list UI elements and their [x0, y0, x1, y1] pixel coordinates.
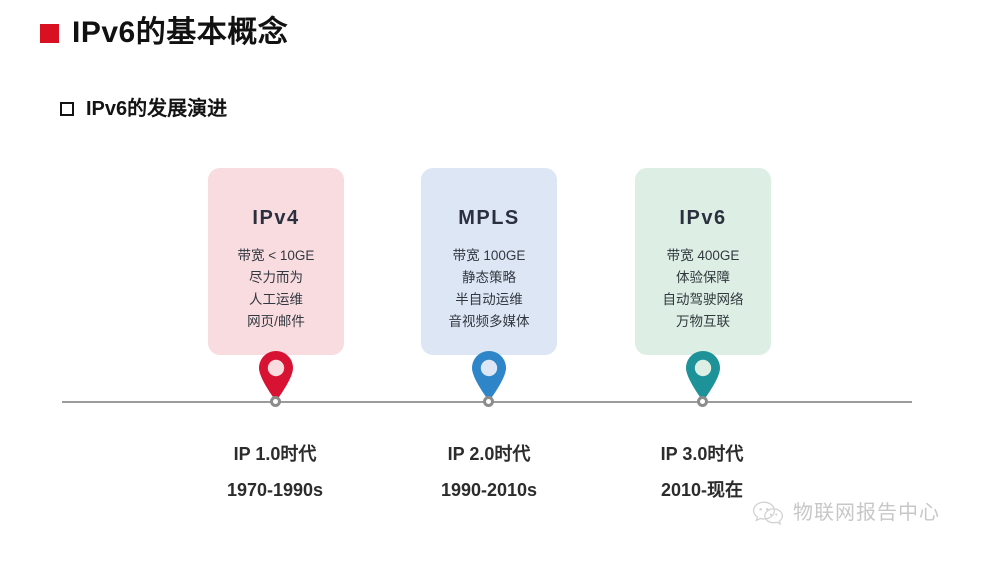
era-name: IP 3.0时代 — [602, 445, 802, 463]
stage-card-title: IPv6 — [635, 208, 771, 228]
stage-card-mpls: MPLS 带宽 100GE 静态策略 半自动运维 音视频多媒体 — [421, 168, 557, 355]
watermark: 物联网报告中心 — [752, 500, 940, 526]
era-years: 1990-2010s — [389, 481, 589, 499]
stage-card-ipv6: IPv6 带宽 400GE 体验保障 自动驾驶网络 万物互联 — [635, 168, 771, 355]
stage-card-bullet: 带宽 < 10GE — [208, 245, 344, 267]
era-years: 1970-1990s — [175, 481, 375, 499]
era-name: IP 2.0时代 — [389, 445, 589, 463]
stage-card-bullet: 半自动运维 — [421, 289, 557, 311]
stage-card-ipv4: IPv4 带宽 < 10GE 尽力而为 人工运维 网页/邮件 — [208, 168, 344, 355]
stage-card-bullet: 带宽 100GE — [421, 245, 557, 267]
era-label-2: IP 2.0时代 1990-2010s — [389, 445, 589, 499]
stage-card-bullet: 万物互联 — [635, 311, 771, 333]
stage-card-bullet: 尽力而为 — [208, 267, 344, 289]
stage-card-bullet: 带宽 400GE — [635, 245, 771, 267]
stage-card-bullets: 带宽 100GE 静态策略 半自动运维 音视频多媒体 — [421, 245, 557, 333]
stage-card-title: IPv4 — [208, 208, 344, 228]
stage-card-bullet: 自动驾驶网络 — [635, 289, 771, 311]
stage-card-title: MPLS — [421, 208, 557, 228]
timeline-node — [270, 396, 281, 407]
timeline-diagram: IPv4 带宽 < 10GE 尽力而为 人工运维 网页/邮件 MPLS 带宽 1… — [0, 0, 1000, 562]
era-years: 2010-现在 — [602, 481, 802, 499]
stage-card-bullet: 网页/邮件 — [208, 311, 344, 333]
wechat-icon — [752, 500, 784, 526]
era-name: IP 1.0时代 — [175, 445, 375, 463]
era-label-1: IP 1.0时代 1970-1990s — [175, 445, 375, 499]
watermark-text: 物联网报告中心 — [793, 503, 940, 523]
timeline-node — [483, 396, 494, 407]
stage-card-bullet: 静态策略 — [421, 267, 557, 289]
stage-card-bullets: 带宽 < 10GE 尽力而为 人工运维 网页/邮件 — [208, 245, 344, 333]
timeline-node — [697, 396, 708, 407]
stage-card-bullet: 音视频多媒体 — [421, 311, 557, 333]
stage-card-bullets: 带宽 400GE 体验保障 自动驾驶网络 万物互联 — [635, 245, 771, 333]
stage-card-bullet: 人工运维 — [208, 289, 344, 311]
era-label-3: IP 3.0时代 2010-现在 — [602, 445, 802, 499]
stage-card-bullet: 体验保障 — [635, 267, 771, 289]
